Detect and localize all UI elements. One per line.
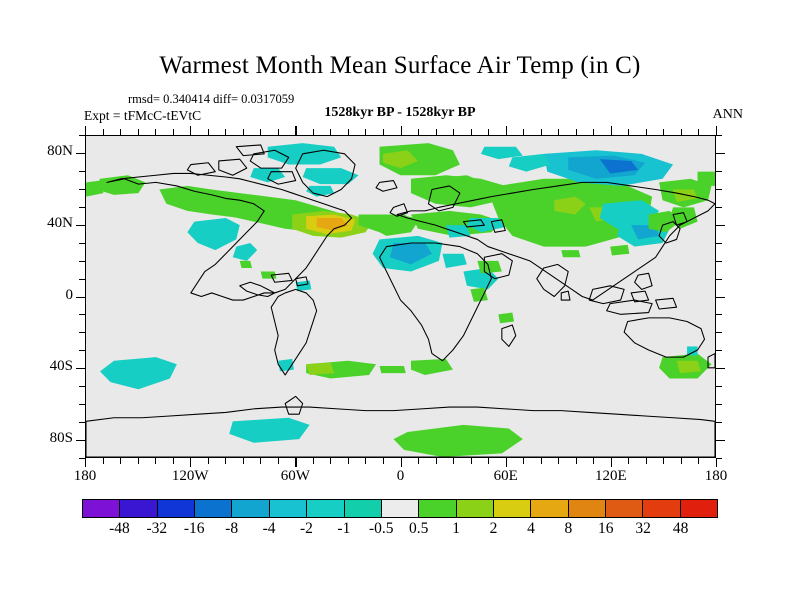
colorbar-segment (531, 500, 568, 517)
colorbar-segment (494, 500, 531, 517)
colorbar-labels: -48-32-16-8-4-2-1-0.50.51248163248 (0, 520, 800, 542)
axis-tick (628, 129, 629, 135)
axis-tick (558, 458, 559, 464)
axis-tick (453, 458, 454, 464)
axis-tick (76, 440, 85, 441)
axis-tick (716, 171, 722, 172)
axis-tick (85, 458, 86, 467)
colorbar (82, 499, 718, 518)
axis-tick (76, 153, 85, 154)
axis-tick (506, 458, 507, 467)
x-axis-label: 180 (50, 468, 120, 485)
axis-tick (453, 129, 454, 135)
axis-tick (716, 386, 722, 387)
axis-tick (79, 207, 85, 208)
y-axis-label: 80N (23, 143, 73, 160)
axis-tick (541, 458, 542, 464)
axis-tick (383, 129, 384, 135)
colorbar-segment (120, 500, 157, 517)
colorbar-segment (270, 500, 307, 517)
axis-tick (79, 243, 85, 244)
map-plot-area (85, 135, 716, 458)
axis-tick (558, 129, 559, 135)
axis-tick (716, 440, 725, 441)
axis-tick (716, 458, 722, 459)
axis-tick (716, 153, 725, 154)
axis-tick (716, 243, 722, 244)
y-axis-label: 80S (23, 430, 73, 447)
axis-tick (190, 458, 191, 467)
axis-tick (225, 458, 226, 464)
axis-tick (716, 261, 722, 262)
axis-tick (365, 458, 366, 464)
axis-tick (663, 458, 664, 464)
colorbar-segment (232, 500, 269, 517)
colorbar-segment (345, 500, 382, 517)
axis-tick (716, 368, 725, 369)
axis-tick (120, 129, 121, 135)
axis-tick (471, 458, 472, 464)
axis-tick (401, 126, 402, 135)
axis-tick (436, 458, 437, 464)
axis-tick (436, 129, 437, 135)
colorbar-segment (569, 500, 606, 517)
axis-tick (523, 129, 524, 135)
axis-tick (208, 129, 209, 135)
axis-tick (663, 129, 664, 135)
axis-tick (120, 458, 121, 464)
colorbar-segment (307, 500, 344, 517)
page-title: Warmest Month Mean Surface Air Temp (in … (0, 52, 800, 80)
colorbar-segment (457, 500, 494, 517)
axis-tick (576, 458, 577, 464)
axis-tick (716, 422, 722, 423)
axis-tick (330, 129, 331, 135)
y-axis-label: 40S (23, 358, 73, 375)
axis-tick (138, 458, 139, 464)
axis-tick (155, 129, 156, 135)
axis-tick (79, 171, 85, 172)
axis-tick (79, 332, 85, 333)
axis-tick (628, 458, 629, 464)
axis-tick (716, 135, 722, 136)
axis-tick (278, 129, 279, 135)
axis-tick (313, 129, 314, 135)
axis-tick (716, 458, 717, 467)
axis-tick (103, 458, 104, 464)
x-axis-label: 120W (155, 468, 225, 485)
x-axis-label: 60W (260, 468, 330, 485)
axis-tick (541, 129, 542, 135)
x-axis-label: 60E (471, 468, 541, 485)
axis-tick (681, 129, 682, 135)
axis-tick (716, 350, 722, 351)
axis-tick (76, 225, 85, 226)
x-axis-label: 0 (366, 468, 436, 485)
axis-tick (138, 129, 139, 135)
axis-tick (295, 458, 296, 467)
axis-tick (698, 129, 699, 135)
colorbar-segment (158, 500, 195, 517)
axis-tick (365, 129, 366, 135)
axis-tick (383, 458, 384, 464)
axis-tick (523, 458, 524, 464)
season-label: ANN (713, 107, 743, 123)
axis-tick (576, 129, 577, 135)
axis-tick (348, 129, 349, 135)
axis-tick (79, 458, 85, 459)
axis-tick (716, 225, 725, 226)
axis-tick (716, 207, 722, 208)
axis-tick (488, 458, 489, 464)
axis-tick (418, 129, 419, 135)
axis-tick (79, 189, 85, 190)
axis-tick (79, 314, 85, 315)
axis-tick (506, 126, 507, 135)
axis-tick (260, 458, 261, 464)
colorbar-tick-label: 48 (651, 520, 711, 538)
axis-tick (190, 126, 191, 135)
axis-tick (79, 422, 85, 423)
axis-tick (79, 279, 85, 280)
axis-tick (488, 129, 489, 135)
axis-tick (243, 458, 244, 464)
axis-tick (278, 458, 279, 464)
axis-tick (716, 332, 722, 333)
axis-tick (681, 458, 682, 464)
axis-tick (76, 368, 85, 369)
world-anomaly-map (86, 136, 715, 457)
axis-tick (471, 129, 472, 135)
axis-tick (401, 458, 402, 467)
colorbar-segment (419, 500, 456, 517)
colorbar-segment (643, 500, 680, 517)
axis-tick (611, 458, 612, 467)
axis-tick (593, 458, 594, 464)
axis-tick (79, 261, 85, 262)
axis-tick (173, 129, 174, 135)
axis-tick (243, 129, 244, 135)
axis-tick (716, 314, 722, 315)
axis-tick (716, 189, 722, 190)
x-axis-label: 120E (576, 468, 646, 485)
axis-tick (646, 458, 647, 464)
y-axis-label: 40N (23, 215, 73, 232)
axis-tick (76, 297, 85, 298)
colorbar-segment (606, 500, 643, 517)
axis-tick (716, 404, 722, 405)
axis-tick (295, 126, 296, 135)
axis-tick (313, 458, 314, 464)
colorbar-segment (382, 500, 419, 517)
axis-tick (173, 458, 174, 464)
period-label: 1528kyr BP - 1528kyr BP (0, 105, 800, 121)
axis-tick (260, 129, 261, 135)
axis-tick (330, 458, 331, 464)
axis-tick (225, 129, 226, 135)
figure-canvas: Warmest Month Mean Surface Air Temp (in … (0, 0, 800, 600)
axis-tick (646, 129, 647, 135)
colorbar-segment (681, 500, 717, 517)
axis-tick (79, 404, 85, 405)
colorbar-segment (195, 500, 232, 517)
axis-tick (348, 458, 349, 464)
axis-tick (698, 458, 699, 464)
axis-tick (155, 458, 156, 464)
colorbar-segment (83, 500, 120, 517)
axis-tick (208, 458, 209, 464)
axis-tick (611, 126, 612, 135)
axis-tick (716, 126, 717, 135)
x-axis-label: 180 (681, 468, 751, 485)
axis-tick (103, 129, 104, 135)
axis-tick (716, 297, 725, 298)
axis-tick (418, 458, 419, 464)
y-axis-label: 0 (23, 287, 73, 304)
axis-tick (593, 129, 594, 135)
axis-tick (85, 126, 86, 135)
axis-tick (716, 279, 722, 280)
axis-tick (79, 386, 85, 387)
axis-tick (79, 350, 85, 351)
axis-tick (79, 135, 85, 136)
